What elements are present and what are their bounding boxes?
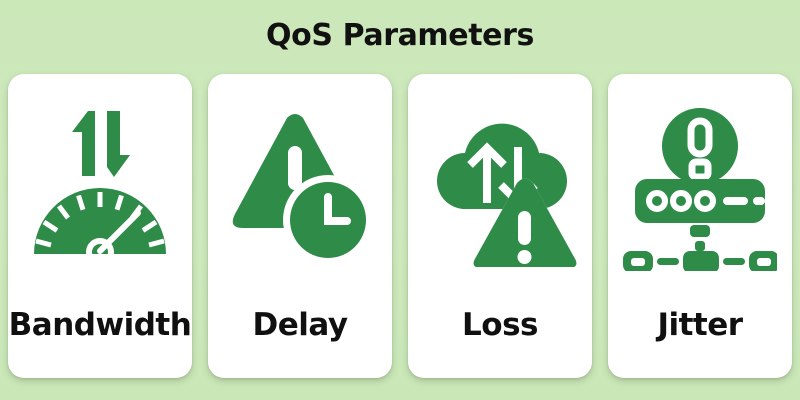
card-label-jitter: Jitter: [608, 308, 792, 342]
page-title: QoS Parameters: [0, 18, 800, 54]
qos-card-row: Bandwidth: [8, 74, 792, 378]
up-arrow-icon: [72, 111, 95, 176]
delay-warning-clock-icon: [220, 86, 380, 286]
qos-parameters-poster: QoS Parameters: [0, 0, 800, 400]
exclamation-mark-icon: [518, 211, 532, 264]
bandwidth-gauge-icon: [20, 86, 180, 286]
down-arrow-icon: [107, 111, 130, 177]
qos-card-bandwidth[interactable]: Bandwidth: [8, 74, 192, 378]
qos-card-loss[interactable]: Loss: [408, 74, 592, 378]
network-connector-stem: [690, 225, 710, 251]
card-label-bandwidth: Bandwidth: [8, 308, 192, 342]
qos-card-delay[interactable]: Delay: [208, 74, 392, 378]
card-label-delay: Delay: [208, 308, 392, 342]
qos-card-jitter[interactable]: Jitter: [608, 74, 792, 378]
loss-cloud-warning-icon: [420, 86, 580, 286]
card-label-loss: Loss: [408, 308, 592, 342]
network-nodes: [623, 251, 777, 271]
jitter-network-device-icon: [620, 86, 780, 286]
router-ports: [723, 197, 765, 205]
